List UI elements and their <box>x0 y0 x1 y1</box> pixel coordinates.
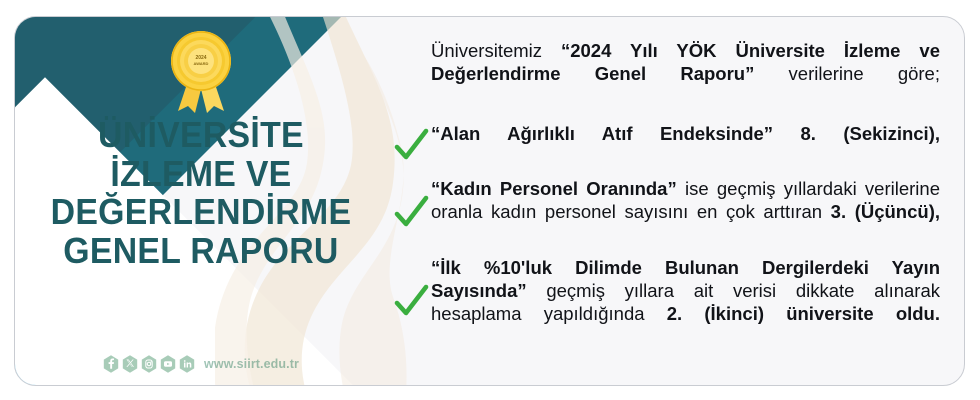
achievement-item-3: “İlk %10'luk Dilimde Bulunan Dergilerdek… <box>405 256 940 349</box>
achievement-3-part-2: 2. (İkinci) üniversite oldu. <box>667 303 940 324</box>
headline-line-2: İZLEME VE <box>51 156 352 192</box>
social-links-row: www.siirt.edu.tr <box>15 355 387 373</box>
achievement-text-3: “İlk %10'luk Dilimde Bulunan Dergilerdek… <box>431 256 940 349</box>
headline-line-3: DEĞERLENDİRME <box>51 194 352 230</box>
youtube-icon[interactable] <box>160 355 176 373</box>
achievement-text-1: “Alan Ağırlıklı Atıf Endeksinde” 8. (Sek… <box>431 122 940 168</box>
poster-content: 2024 AWARD ÜNİVERSİTE İZLEME VE DEĞERLEN… <box>15 17 964 385</box>
headline-line-1: ÜNİVERSİTE <box>51 117 352 153</box>
green-check-icon <box>391 282 431 322</box>
poster-headline: ÜNİVERSİTE İZLEME VE DEĞERLENDİRME GENEL… <box>51 117 352 269</box>
instagram-icon[interactable] <box>141 355 157 373</box>
green-check-icon <box>391 193 431 233</box>
intro-before: Üniversitemiz <box>431 40 561 61</box>
achievement-item-2: “Kadın Personel Oranında” ise geçmiş yıl… <box>405 177 940 246</box>
achievement-1-part-0: “Alan Ağırlıklı Atıf Endeksinde” 8. (Sek… <box>431 123 940 144</box>
achievement-item-1: “Alan Ağırlıklı Atıf Endeksinde” 8. (Sek… <box>405 122 940 168</box>
facebook-icon[interactable] <box>103 355 119 373</box>
poster-stage: 2024 AWARD ÜNİVERSİTE İZLEME VE DEĞERLEN… <box>0 0 980 400</box>
achievement-text-2: “Kadın Personel Oranında” ise geçmiş yıl… <box>431 177 940 246</box>
left-title-panel: 2024 AWARD ÜNİVERSİTE İZLEME VE DEĞERLEN… <box>15 17 387 385</box>
poster-card: 2024 AWARD ÜNİVERSİTE İZLEME VE DEĞERLEN… <box>14 16 965 386</box>
achievement-2-part-0: “Kadın Personel Oranında” <box>431 178 677 199</box>
award-rosette-icon: 2024 AWARD <box>164 29 238 113</box>
linkedin-icon[interactable] <box>179 355 195 373</box>
svg-text:AWARD: AWARD <box>194 61 209 66</box>
headline-line-4: GENEL RAPORU <box>51 233 352 269</box>
intro-paragraph: Üniversitemiz “2024 Yılı YÖK Üniversite … <box>405 39 940 109</box>
achievement-2-part-2: 3. (Üçüncü), <box>831 201 940 222</box>
green-check-icon <box>391 126 431 166</box>
x-twitter-icon[interactable] <box>122 355 138 373</box>
intro-after: verilerine göre; <box>754 63 940 84</box>
website-url[interactable]: www.siirt.edu.tr <box>204 357 299 371</box>
right-text-panel: Üniversitemiz “2024 Yılı YÖK Üniversite … <box>387 17 964 385</box>
